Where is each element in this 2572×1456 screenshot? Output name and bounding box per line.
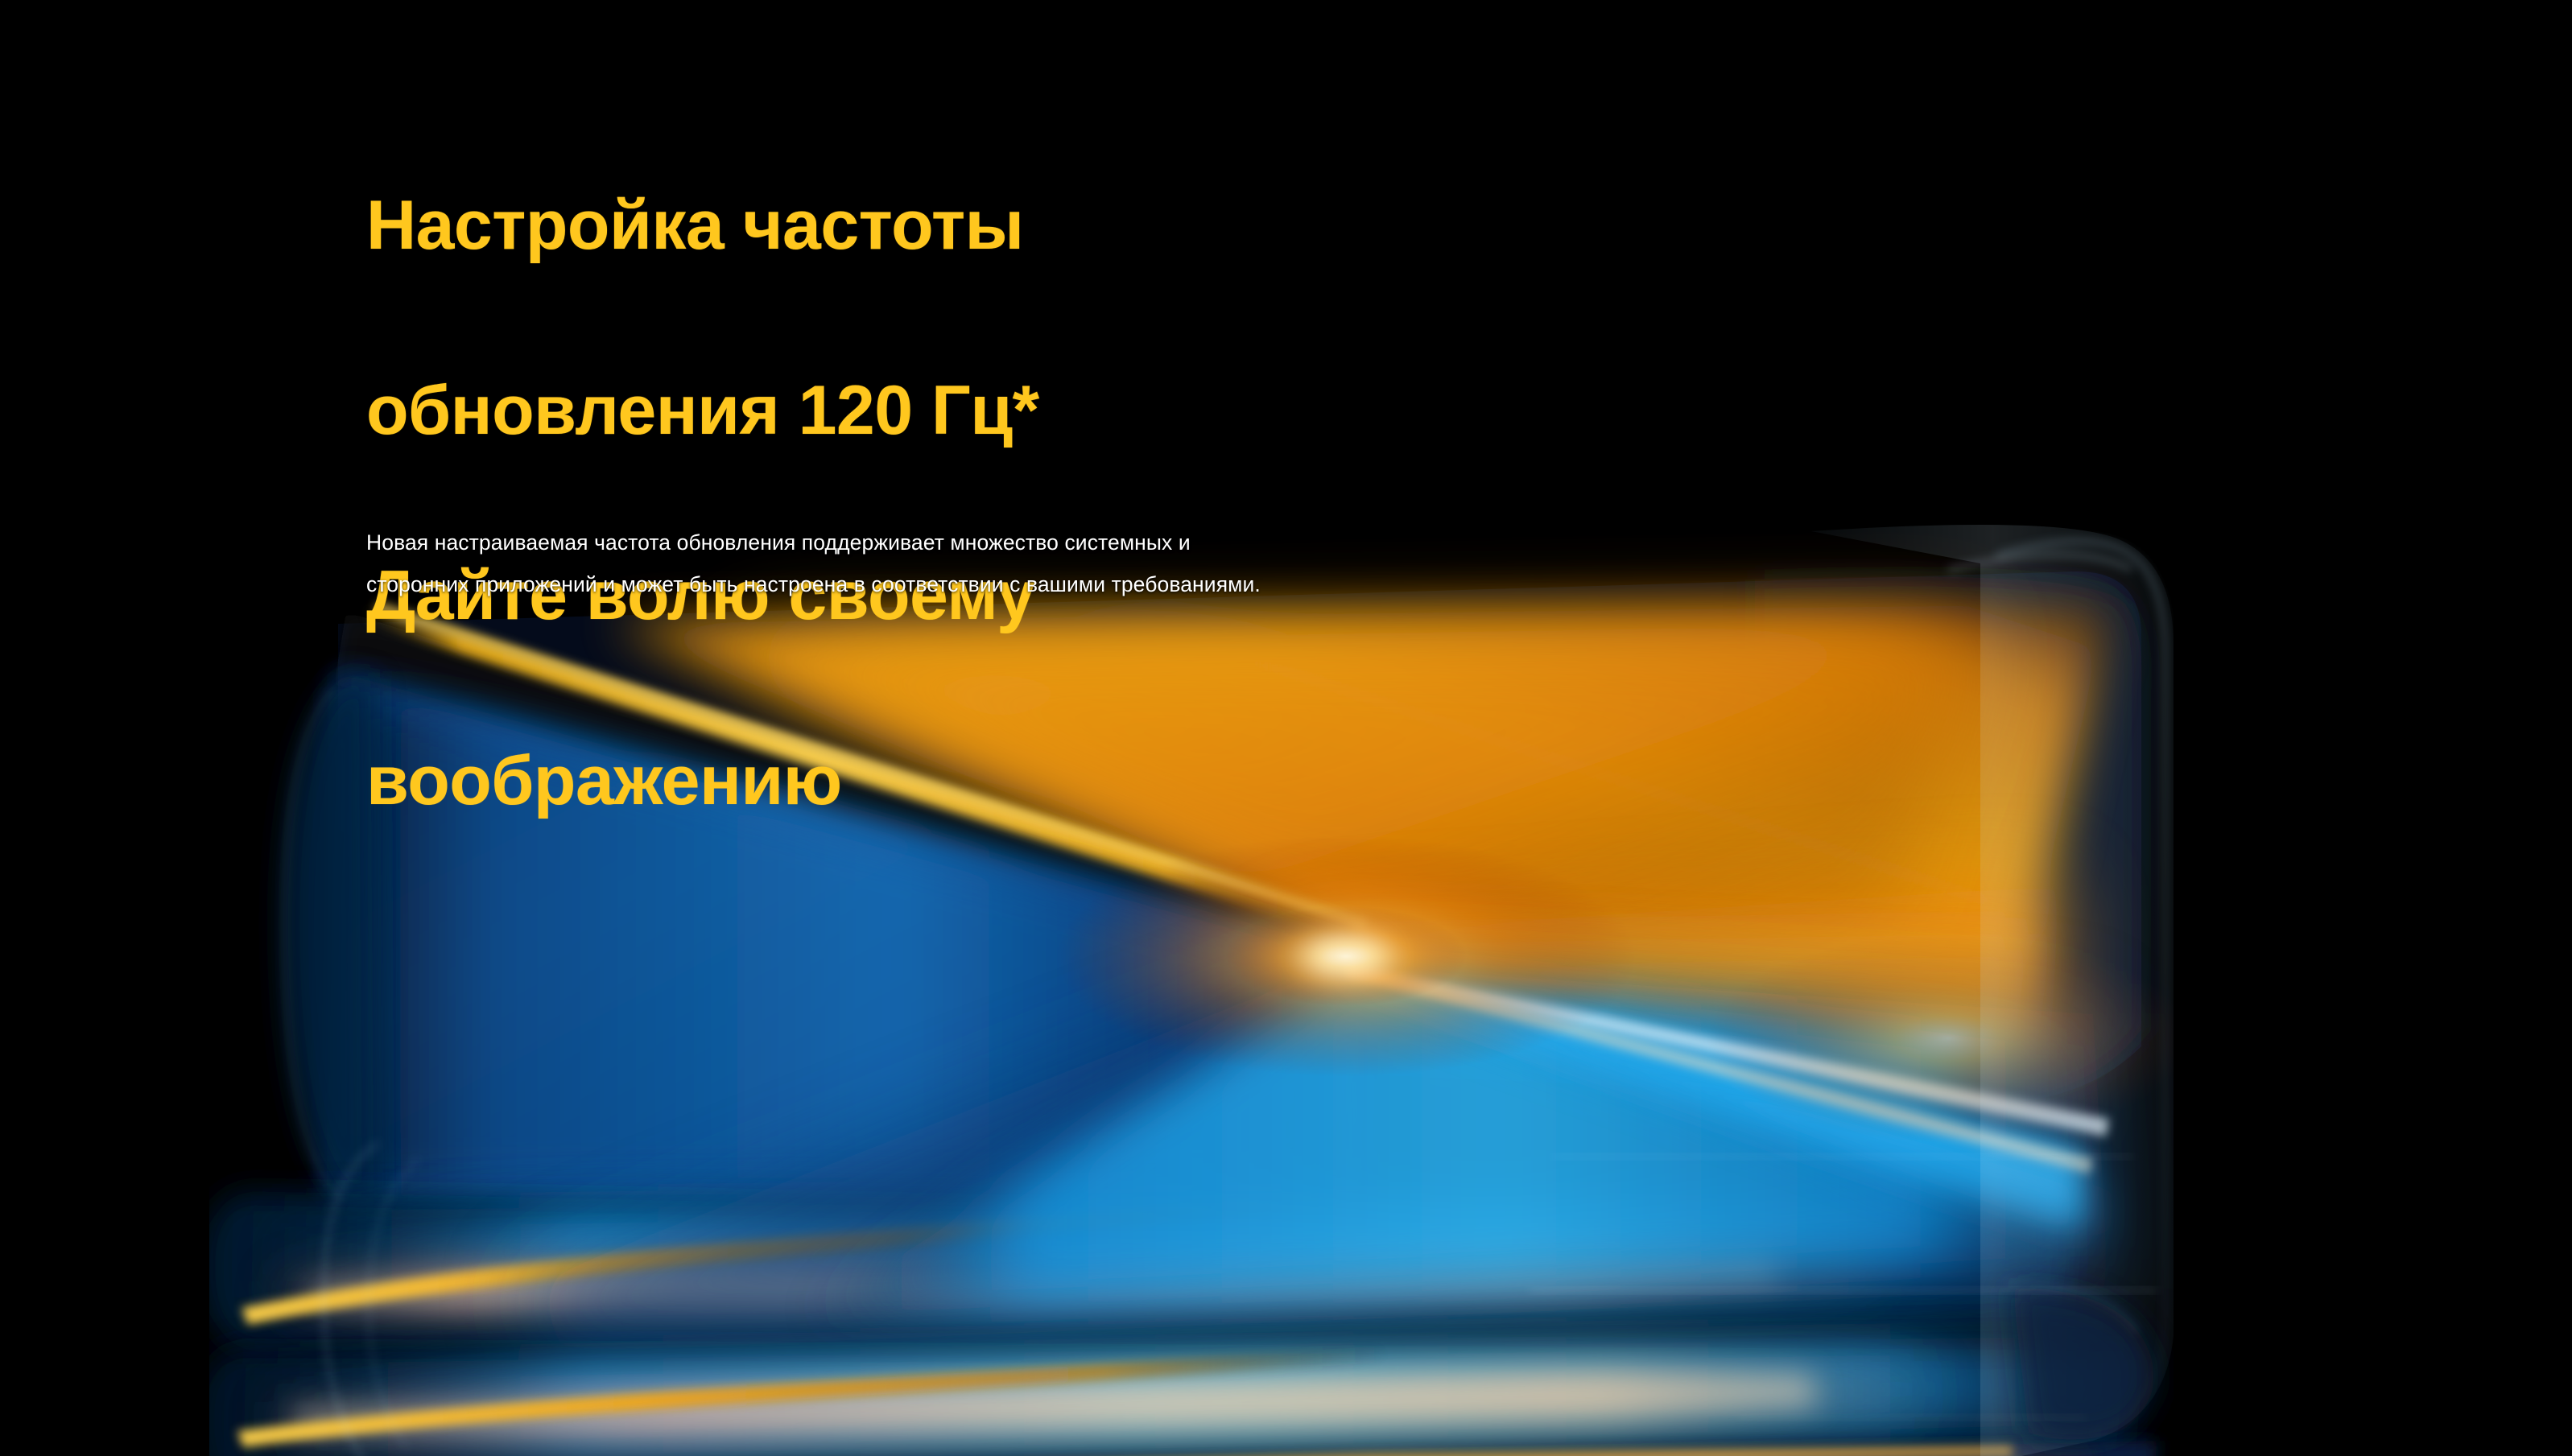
headline-line-1: Настройка частоты xyxy=(366,179,2137,272)
promo-page: Настройка частоты обновления 120 Гц* Дай… xyxy=(0,0,2572,1456)
page-title: Настройка частоты обновления 120 Гц* Дай… xyxy=(366,87,2137,920)
hero-description: Новая настраиваемая частота обновления п… xyxy=(366,522,1654,605)
headline-line-4: воображению xyxy=(366,735,2137,827)
description-line-1: Новая настраиваемая частота обновления п… xyxy=(366,522,1654,563)
headline-line-2: обновления 120 Гц* xyxy=(366,365,2137,457)
description-line-2: сторонних приложений и может быть настро… xyxy=(366,563,1654,605)
